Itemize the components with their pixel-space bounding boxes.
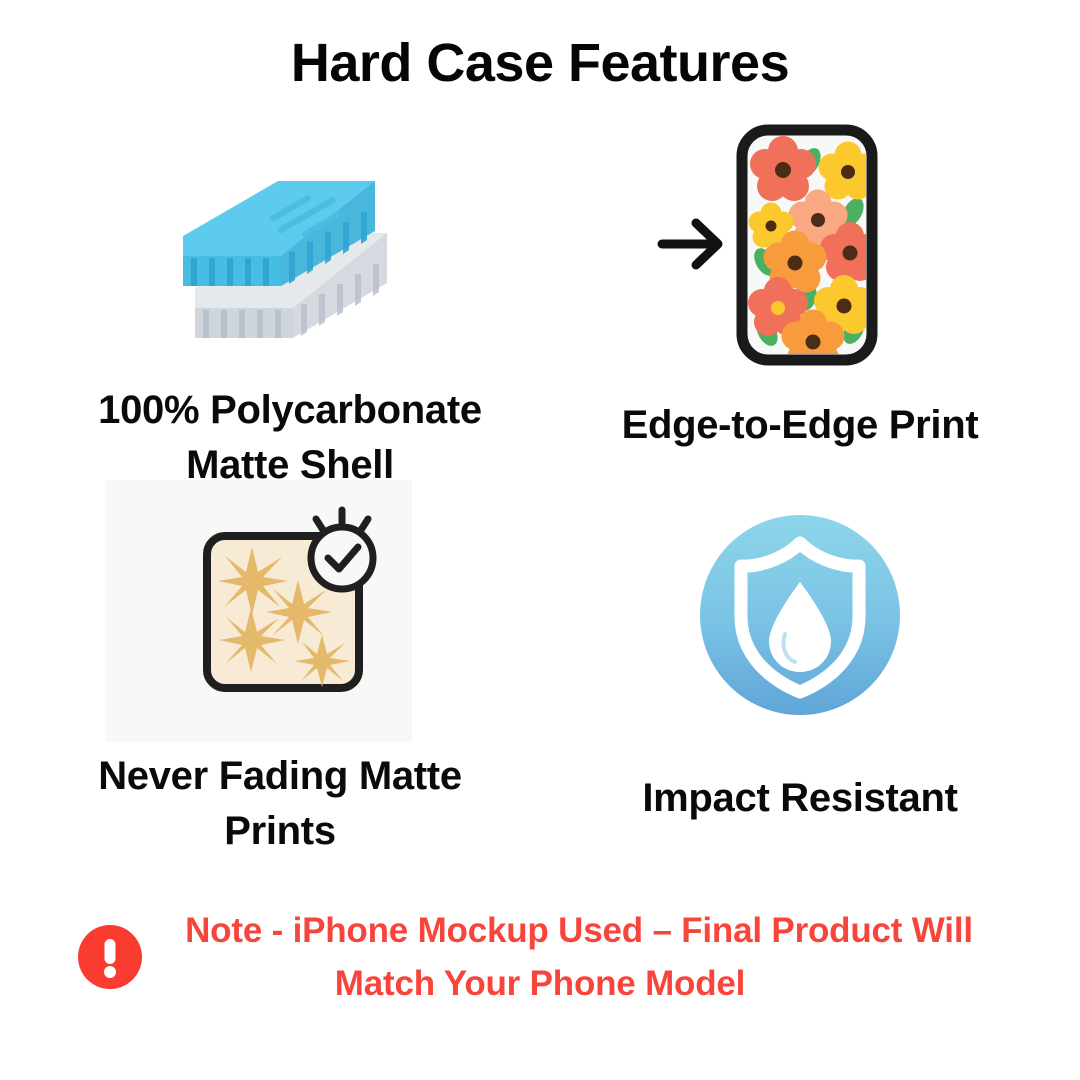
- feature-impact-resistant: Impact Resistant: [540, 495, 1060, 826]
- feature-edge-to-edge: Edge-to-Edge Print: [540, 120, 1060, 453]
- feature-label-line1: 100% Polycarbonate: [98, 388, 482, 432]
- note-banner: Note - iPhone Mockup Used – Final Produc…: [0, 905, 1080, 1010]
- feature-label-line2: Prints: [224, 809, 336, 853]
- feature-label-never-fading: Never Fading Matte Prints: [20, 749, 540, 859]
- exclamation-alert-icon: [78, 925, 142, 989]
- feature-label-line1: Impact Resistant: [642, 776, 957, 820]
- note-text: Note - iPhone Mockup Used – Final Produc…: [70, 905, 1010, 1010]
- sparkle-square-check-icon: [155, 478, 405, 728]
- floral-phone-case-icon-wrap: [540, 120, 1060, 370]
- feature-label-impact-resistant: Impact Resistant: [540, 771, 1060, 826]
- shield-droplet-icon-wrap: [540, 495, 1060, 735]
- shield-droplet-icon: [695, 510, 905, 720]
- feature-never-fading: Never Fading Matte Prints: [20, 470, 540, 859]
- page-title: Hard Case Features: [0, 32, 1080, 94]
- phone-case-body: [742, 130, 880, 370]
- check-badge-icon: [311, 510, 373, 589]
- arrow-right-icon: [662, 223, 718, 265]
- sparkle-square-check-icon-wrap: [20, 470, 540, 735]
- feature-polycarbonate: 100% Polycarbonate Matte Shell: [30, 150, 550, 493]
- product-feature-infographic: Hard Case Features: [0, 0, 1080, 1080]
- feature-label-edge-to-edge: Edge-to-Edge Print: [540, 398, 1060, 453]
- feature-label-line1: Edge-to-Edge Print: [622, 403, 979, 447]
- floral-phone-case-icon: [650, 120, 950, 370]
- feature-label-line1: Never Fading Matte: [98, 754, 462, 798]
- layered-slabs-icon: [165, 158, 415, 358]
- layered-slabs-icon-wrap: [30, 150, 550, 365]
- floral-pattern: [748, 136, 880, 370]
